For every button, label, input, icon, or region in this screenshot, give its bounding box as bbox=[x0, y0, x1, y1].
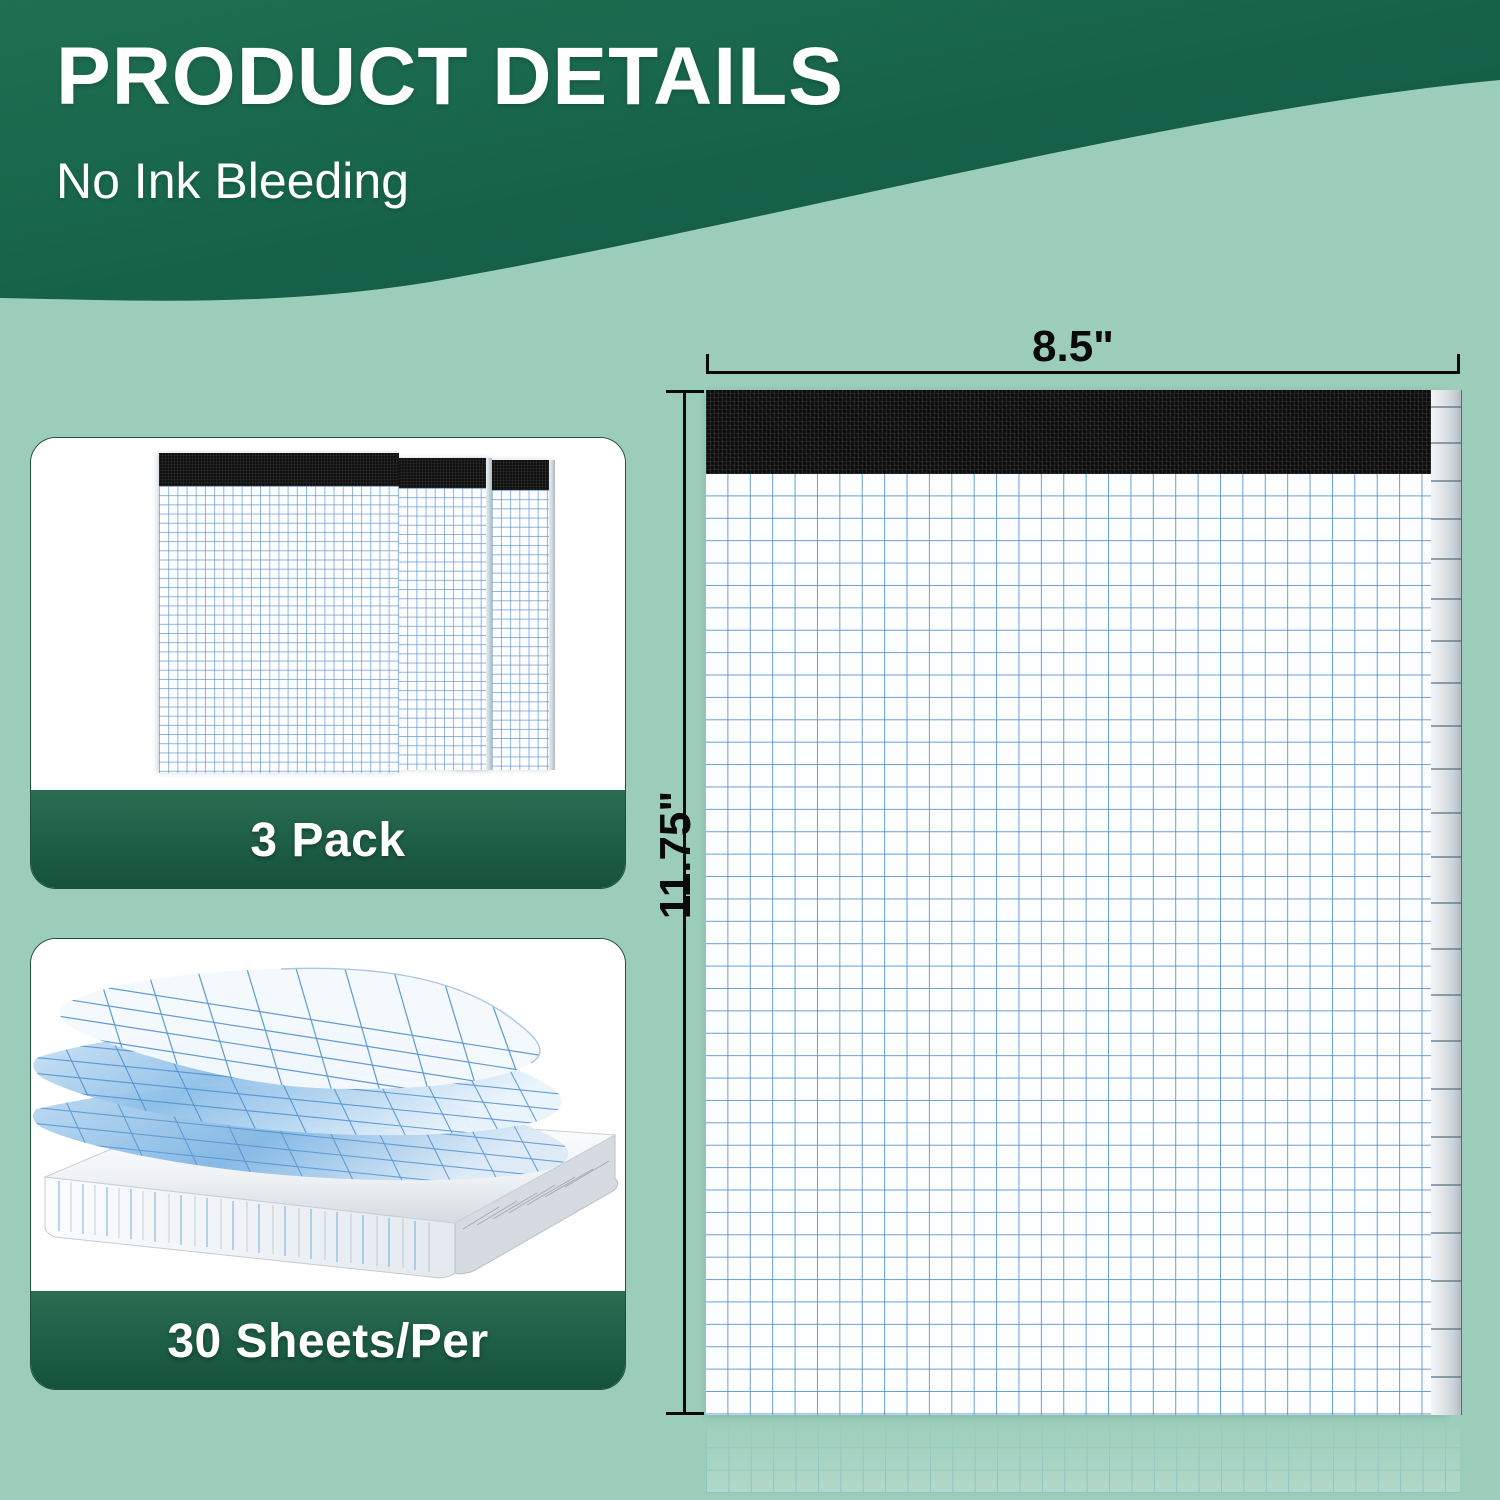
mini-notepad-middle-edge bbox=[486, 458, 492, 770]
product-notepad[interactable] bbox=[706, 390, 1460, 1415]
three-pack-label-band: 3 Pack bbox=[31, 790, 625, 889]
feature-card-three-pack[interactable]: 3 Pack bbox=[30, 437, 626, 889]
mini-binding-tape bbox=[398, 458, 490, 488]
mini-notepad-front bbox=[159, 453, 399, 773]
mini-notepad-back-edge bbox=[549, 460, 555, 770]
mini-graph-grid bbox=[159, 486, 399, 773]
width-dimension-label: 8.5" bbox=[1032, 322, 1114, 372]
page-title: PRODUCT DETAILS bbox=[56, 36, 844, 118]
height-dimension-label: 11.75" bbox=[651, 765, 701, 945]
sheet-stack-image bbox=[31, 939, 625, 1291]
height-dimension-tick-bottom bbox=[666, 1412, 704, 1415]
header-text-group: PRODUCT DETAILS No Ink Bleeding bbox=[56, 36, 844, 206]
infographic-canvas: PRODUCT DETAILS No Ink Bleeding bbox=[0, 0, 1500, 1500]
notepad-reflection bbox=[706, 1415, 1460, 1493]
sheet-count-label: 30 Sheets/Per bbox=[167, 1314, 488, 1369]
width-dimension-tick-right bbox=[1457, 354, 1460, 374]
mini-graph-grid bbox=[398, 488, 490, 770]
header-banner: PRODUCT DETAILS No Ink Bleeding bbox=[0, 0, 1500, 330]
notepad-page-stack-edge bbox=[1431, 390, 1462, 1415]
three-pack-image bbox=[31, 438, 625, 790]
notepad-paper-body bbox=[706, 390, 1446, 1415]
three-pack-label: 3 Pack bbox=[250, 813, 405, 868]
notepad-binding-tape bbox=[706, 390, 1446, 474]
paper-stack-illustration bbox=[31, 939, 625, 1291]
feature-card-sheet-count[interactable]: 30 Sheets/Per bbox=[30, 938, 626, 1390]
page-subtitle: No Ink Bleeding bbox=[56, 118, 844, 206]
sheet-count-label-band: 30 Sheets/Per bbox=[31, 1291, 625, 1390]
mini-binding-tape bbox=[159, 453, 399, 486]
mini-notepad-middle bbox=[398, 458, 490, 770]
notepad-graph-grid bbox=[706, 474, 1446, 1415]
